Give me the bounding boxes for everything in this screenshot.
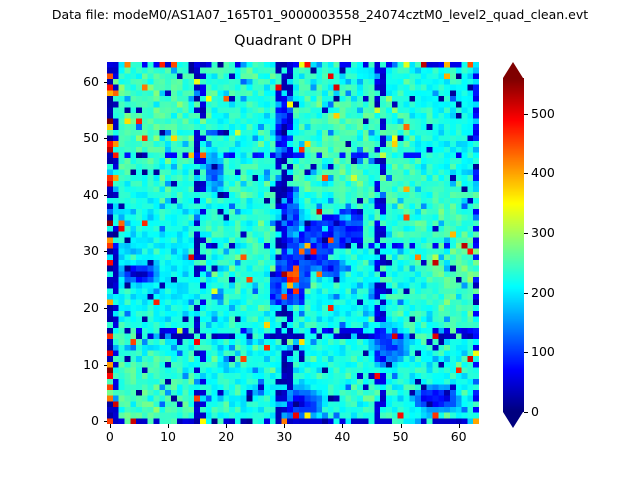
x-tick-mark [168,424,169,428]
y-tick-label: 40 [49,188,99,202]
colorbar-tick-mark [524,412,528,413]
colorbar-tick-label: 100 [531,345,555,359]
x-tick-mark [459,424,460,428]
colorbar-tick-mark [524,233,528,234]
matplotlib-figure: Data file: modeM0/AS1A07_165T01_90000035… [0,0,640,480]
x-tick-mark [342,424,343,428]
x-tick-label: 40 [317,430,367,444]
colorbar-over-arrow-icon [503,62,523,78]
x-tick-label: 30 [259,430,309,444]
colorbar-tick-label: 300 [531,226,555,240]
heatmap-axes [107,62,479,424]
y-tick-mark [104,251,108,252]
colorbar-tick-mark [524,293,528,294]
x-tick-label: 0 [85,430,135,444]
colorbar-tick-mark [524,173,528,174]
data-file-suptitle: Data file: modeM0/AS1A07_165T01_90000035… [0,7,640,22]
colorbar-tick-label: 500 [531,107,555,121]
y-tick-mark [104,138,108,139]
colorbar-tick-label: 0 [531,405,539,419]
y-tick-label: 0 [49,414,99,428]
y-tick-label: 60 [49,75,99,89]
colorbar-gradient [503,78,524,412]
x-tick-label: 20 [201,430,251,444]
y-tick-mark [104,365,108,366]
y-tick-label: 10 [49,358,99,372]
y-tick-label: 20 [49,301,99,315]
x-tick-mark [226,424,227,428]
colorbar-tick-mark [524,114,528,115]
colorbar-tick-label: 400 [531,166,555,180]
colorbar[interactable] [503,62,524,428]
y-tick-mark [104,308,108,309]
x-tick-mark [284,424,285,428]
y-tick-label: 50 [49,131,99,145]
detector-heatmap-image [107,62,479,424]
x-tick-label: 50 [376,430,426,444]
x-tick-mark [110,424,111,428]
y-tick-mark [104,195,108,196]
x-tick-label: 60 [434,430,484,444]
y-tick-mark [104,421,108,422]
page-title: Quadrant 0 DPH [107,32,479,50]
y-tick-label: 30 [49,244,99,258]
x-tick-mark [401,424,402,428]
colorbar-tick-mark [524,352,528,353]
x-tick-label: 10 [143,430,193,444]
colorbar-under-arrow-icon [503,412,523,428]
y-tick-mark [104,82,108,83]
colorbar-tick-label: 200 [531,286,555,300]
